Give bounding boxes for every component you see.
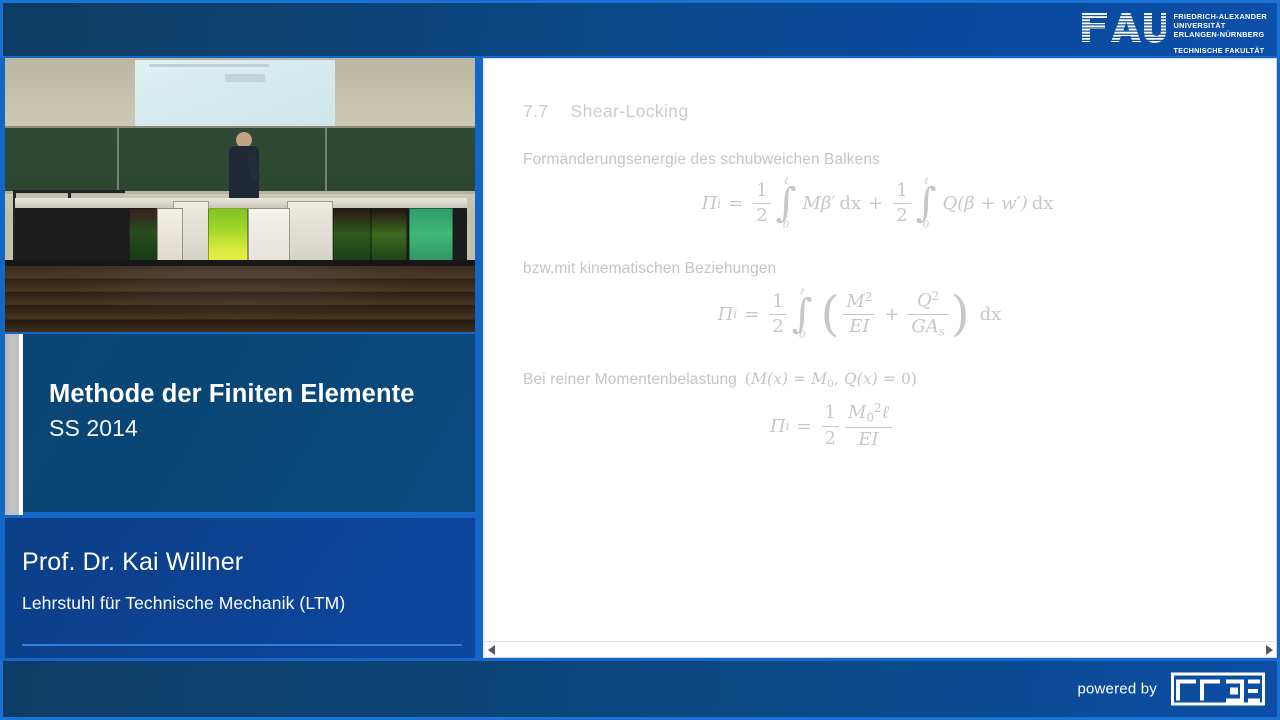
fraction-bar [822,426,839,427]
eq1-integral-a: ℓ ∫ 0 [776,177,797,231]
eq2-frac-2-den-base: GA [911,316,938,337]
eq3-cond-qx: Q(х) [844,370,878,388]
eq3-main-num-sub: 0 [866,411,874,425]
eq3-equals: = [796,416,811,437]
eq2-frac-2-num: Q2 [914,290,942,311]
slide-panel[interactable]: 7.7 Shear-Locking Formänderungsenergie d… [483,58,1277,658]
fraction-bar [893,203,910,204]
eq3-main-num-tail: ℓ [882,402,890,423]
eq1-integral-b: ℓ ∫ 0 [916,177,937,231]
fau-logo-line-1: FRIEDRICH-ALEXANDER [1174,12,1267,21]
eq1-half-b: 1 2 [893,181,910,226]
eq3-main-num: M02ℓ [845,402,892,425]
eq3-main-num-exp: 2 [874,401,882,415]
auditorium-seating [5,266,475,332]
eq3-half-den: 2 [822,429,839,449]
eq2-frac-1: M2 EI [843,291,875,337]
eq2-lhs-sub: i [733,307,737,321]
eq3-main-num-base: M [848,402,866,423]
eq3-main-frac: M02ℓ EI [845,402,892,450]
eq2-half: 1 2 [769,292,786,337]
eq1-half-b-num: 1 [893,181,910,201]
eq3-half-num: 1 [822,403,839,423]
slide-line-3-prefix: Bei reiner Momentenbelastung [523,371,737,389]
integral-symbol: ∫ [776,187,797,221]
eq1-dx-a: dх [839,193,861,214]
presenter-name: Prof. Dr. Kai Willner [22,548,475,577]
equation-1: Πi = 1 2 ℓ ∫ 0 Mβ′ dх + [523,177,1242,231]
slide-text-line-3: Bei reiner Momentenbelastung (M(х)=M0,Q(… [523,370,1242,390]
fau-logo-line-3: ERLANGEN-NÜRNBERG [1174,30,1267,39]
integral-symbol: ∫ [916,187,937,221]
fraction-bar [908,314,948,315]
fau-logo-faculty: TECHNISCHE FAKULTÄT [1174,46,1267,55]
screen-formula-blob [225,74,265,82]
eq1-equals: = [728,193,743,214]
eq1-plus: + [868,193,883,214]
eq2-frac-2: Q2 GAs [908,290,948,338]
eq2-frac-2-num-exp: 2 [932,289,940,303]
fraction-bar [753,203,770,204]
integral-symbol: ∫ [792,298,813,332]
eq2-plus: + [884,304,899,325]
eq1-lhs: Π [702,193,718,214]
eq3-cond-comma: , [834,370,839,388]
eq1-int-a-lower: 0 [783,221,789,231]
eq1-half-den: 2 [753,206,770,226]
eq3-cond-mx: M(х) [751,370,788,388]
eq2-int-lower: 0 [799,331,805,341]
poster-3 [248,208,290,266]
rrze-logo-icon[interactable] [1171,673,1265,706]
eq2-frac-2-num-base: Q [917,291,932,312]
eq3-cond-eq-2: = [883,370,896,388]
eq2-frac-1-den: EI [846,317,872,337]
presenter-block: Prof. Dr. Kai Willner Lehrstuhl für Tech… [5,518,478,658]
eq1-int-b-lower: 0 [923,221,929,231]
eq1-half: 1 2 [753,181,770,226]
screen-text-line [149,64,269,67]
poster-5 [371,208,407,266]
player-window: FRIEDRICH-ALEXANDER UNIVERSITÄT ERLANGEN… [0,0,1280,720]
fraction-bar [845,427,892,428]
left-column: Methode der Finiten Elemente SS 2014 Pro… [3,58,480,658]
slide-text-line-1: Formänderungsenergie des schubweichen Ba… [523,151,1242,169]
eq2-dx: dх [980,304,1002,325]
course-term: SS 2014 [49,415,475,442]
eq2-half-num: 1 [769,292,786,312]
equation-3: Πi = 1 2 M02ℓ EI [523,402,1242,450]
fau-wordmark-icon [1081,10,1167,44]
eq1-lhs-sub: i [717,197,721,211]
eq1-term-2: Q(β + w′) [943,193,1028,214]
eq1-term-1: Mβ′ [802,193,835,214]
scroll-right-arrow-icon[interactable] [1266,645,1273,655]
fau-logo-text: FRIEDRICH-ALEXANDER UNIVERSITÄT ERLANGEN… [1174,10,1267,55]
eq2-frac-2-den-sub: s [939,324,945,338]
eq2-lhs: Π [718,304,734,325]
lecture-video[interactable] [5,58,478,332]
lecture-desk-top [15,198,467,208]
presenter-divider [22,644,462,646]
course-title-block: Methode der Finiten Elemente SS 2014 [5,334,478,515]
poster-soundfeel [208,208,248,266]
scroll-left-arrow-icon[interactable] [488,645,495,655]
eq1-half-num: 1 [753,181,770,201]
slide-content: 7.7 Shear-Locking Formänderungsenergie d… [485,59,1276,641]
header-bar: FRIEDRICH-ALEXANDER UNIVERSITÄT ERLANGEN… [0,0,1280,58]
eq2-half-den: 2 [769,317,786,337]
fraction-bar [769,314,786,315]
eq3-lhs-sub: i [786,419,790,433]
poster-6 [409,208,453,266]
fau-logo-line-2: UNIVERSITÄT [1174,21,1267,30]
eq3-cond-eq-1: = [793,370,806,388]
eq3-main-den: EI [855,430,881,450]
eq3-cond-zero: 0 [901,370,911,388]
slide-horizontal-scrollbar[interactable] [485,641,1276,657]
presenter-chair: Lehrstuhl für Technische Mechanik (LTM) [22,593,475,614]
eq2-frac-2-den: GAs [908,317,948,339]
eq2-integral: ℓ ∫ 0 [792,288,813,342]
eq3-cond-close: ) [911,370,917,388]
slide-section-number: 7.7 [523,101,549,122]
poster-4 [333,208,371,266]
eq1-dx-b: dх [1032,193,1054,214]
course-title-body: Methode der Finiten Elemente SS 2014 [23,334,478,515]
eq2-close-paren: ) [951,300,970,330]
footer-bar: powered by [0,658,1280,720]
eq3-cond-m0-sub: 0 [827,379,834,390]
eq2-frac-1-num-exp: 2 [865,290,873,304]
slide-heading: 7.7 Shear-Locking [523,101,1242,122]
eq3-cond-m0: M [811,370,827,388]
eq3-lhs: Π [770,416,786,437]
fau-logo: FRIEDRICH-ALEXANDER UNIVERSITÄT ERLANGEN… [1081,10,1267,55]
slide-section-title: Shear-Locking [571,101,689,122]
eq2-equals: = [744,304,759,325]
powered-by-group: powered by [1077,673,1265,706]
presenter-figure [227,132,261,202]
poster-2 [157,208,183,266]
projection-screen [135,60,335,126]
left-accent-bar [5,334,23,515]
eq3-condition: (M(х)=M0,Q(х)=0) [745,370,917,390]
eq2-frac-1-num-base: M [846,291,864,312]
course-title: Methode der Finiten Elemente [49,380,475,409]
eq3-half: 1 2 [822,403,839,448]
eq2-frac-1-num: M2 [843,291,875,312]
eq2-open-paren: ( [821,300,840,330]
equation-2: Πi = 1 2 ℓ ∫ 0 ( M2 [523,288,1242,342]
powered-by-label: powered by [1077,681,1157,698]
fraction-bar [843,314,875,315]
slide-text-line-2: bzw.mit kinematischen Beziehungen [523,260,1242,278]
eq1-half-b-den: 2 [893,206,910,226]
desk-cabinet-right [287,201,333,261]
